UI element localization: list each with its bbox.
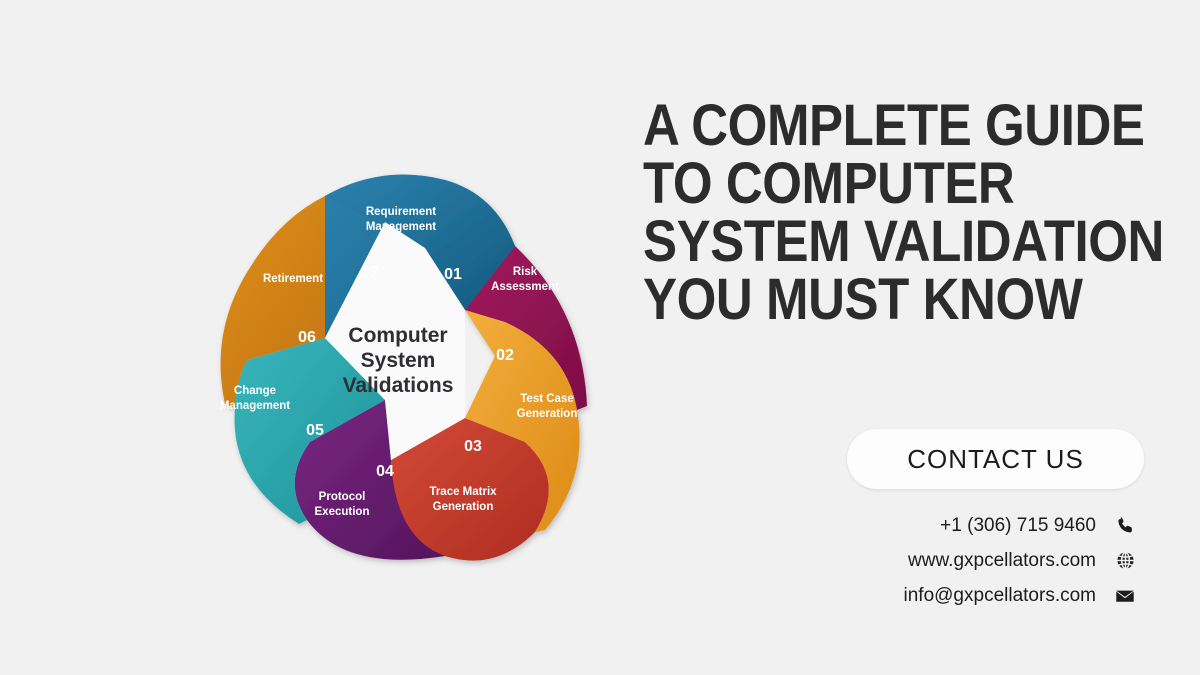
segment-label-03-line-2: Generation (517, 408, 578, 420)
segment-label-03-line-1: Test Case (520, 393, 573, 405)
segment-label-01-line-2: Management (366, 221, 436, 233)
headline-line-4: YOU MUST KNOW (643, 273, 1118, 327)
page-title: A COMPLETE GUIDE TO COMPUTER SYSTEM VALI… (643, 99, 1183, 331)
segment-label-06-line-2: Management (220, 400, 290, 412)
contact-us-button[interactable]: CONTACT US (847, 429, 1144, 489)
headline-line-3: SYSTEM VALIDATION (643, 215, 1118, 269)
envelope-icon (1110, 585, 1140, 607)
phone-icon (1110, 515, 1140, 536)
segment-label-06-line-1: Change (234, 385, 276, 397)
poster-canvas: Computer System Validations Requirement … (0, 0, 1200, 675)
center-label-line-1: Computer (348, 324, 447, 347)
headline-line-1: A COMPLETE GUIDE (643, 99, 1118, 153)
segment-label-04-line-2: Generation (433, 501, 494, 513)
segment-number-03: 03 (464, 438, 482, 455)
diagram-svg: Computer System Validations Requirement … (195, 160, 610, 570)
email-text: info@gxpcellators.com (904, 585, 1096, 607)
contact-details: +1 (306) 715 9460 www.gxpcellators.com (760, 508, 1140, 613)
segment-number-06: 06 (298, 329, 316, 346)
segment-label-04-line-1: Trace Matrix (429, 486, 497, 498)
segment-label-01-line-1: Requirement (366, 206, 436, 218)
segment-number-04: 04 (376, 463, 394, 480)
segment-label-05-line-2: Execution (315, 506, 370, 518)
globe-icon (1110, 550, 1140, 571)
headline-line-2: TO COMPUTER (643, 157, 1118, 211)
contact-row-email[interactable]: info@gxpcellators.com (760, 578, 1140, 613)
segment-label-05-line-1: Protocol (319, 491, 366, 503)
segment-number-02: 02 (496, 347, 514, 364)
csv-cycle-diagram: Computer System Validations Requirement … (195, 160, 610, 570)
website-text: www.gxpcellators.com (908, 550, 1096, 572)
contact-row-phone[interactable]: +1 (306) 715 9460 (760, 508, 1140, 543)
center-label-line-2: System (361, 349, 436, 372)
segment-number-07: 07 (361, 264, 379, 281)
segment-number-05: 05 (306, 422, 324, 439)
segment-label-07-line-1: Retirement (263, 273, 323, 285)
center-label-line-3: Validations (343, 374, 454, 397)
segment-label-02-line-2: Assessment (491, 281, 559, 293)
contact-row-website[interactable]: www.gxpcellators.com (760, 543, 1140, 578)
contact-us-button-label: CONTACT US (907, 444, 1084, 475)
segment-label-02-line-1: Risk (513, 266, 538, 278)
segment-number-01: 01 (444, 266, 462, 283)
phone-number-text: +1 (306) 715 9460 (940, 515, 1096, 537)
